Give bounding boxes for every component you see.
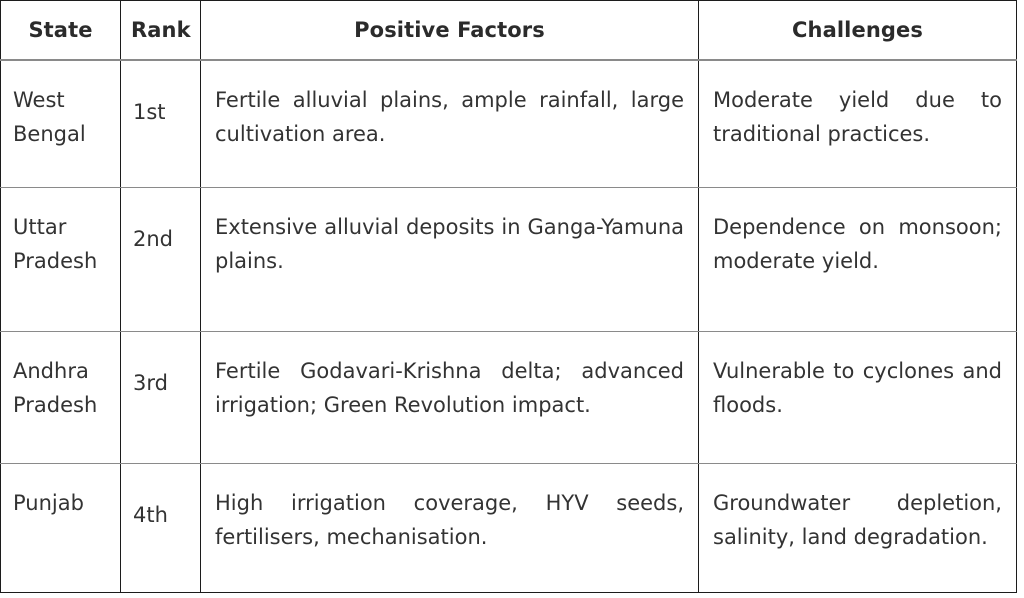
positive-factors-text: Fertile Godavari-Krishna delta; advanced… [215, 354, 684, 422]
challenges-text: Vulnerable to cyclones and floods. [713, 354, 1002, 422]
column-header-rank: Rank [121, 1, 201, 60]
states-comparison-table: State Rank Positive Factors Challenges W… [0, 0, 1017, 593]
table-body: West Bengal 1st Fertile alluvial plains,… [1, 60, 1017, 593]
positive-factors-text: High irrigation coverage, HYV seeds, fer… [215, 486, 684, 554]
cell-challenges: Groundwater depletion, salinity, land de… [699, 464, 1017, 593]
table-row: Punjab 4th High irrigation coverage, HYV… [1, 464, 1017, 593]
positive-factors-text: Extensive alluvial deposits in Ganga-Yam… [215, 210, 684, 278]
cell-state: Andhra Pradesh [1, 332, 121, 464]
column-header-positive-factors: Positive Factors [201, 1, 699, 60]
rank-value: 3rd [133, 354, 194, 400]
column-header-state: State [1, 1, 121, 60]
cell-state: Punjab [1, 464, 121, 593]
column-header-challenges: Challenges [699, 1, 1017, 60]
cell-rank: 1st [121, 60, 201, 188]
cell-state: West Bengal [1, 60, 121, 188]
table-container: State Rank Positive Factors Challenges W… [0, 0, 1017, 593]
cell-challenges: Vulnerable to cyclones and floods. [699, 332, 1017, 464]
positive-factors-text: Fertile alluvial plains, ample rainfall,… [215, 83, 684, 151]
table-row: West Bengal 1st Fertile alluvial plains,… [1, 60, 1017, 188]
table-header-row: State Rank Positive Factors Challenges [1, 1, 1017, 60]
cell-challenges: Moderate yield due to traditional practi… [699, 60, 1017, 188]
cell-positive-factors: Fertile Godavari-Krishna delta; advanced… [201, 332, 699, 464]
table-header: State Rank Positive Factors Challenges [1, 1, 1017, 60]
cell-challenges: Dependence on monsoon; moderate yield. [699, 188, 1017, 332]
cell-rank: 2nd [121, 188, 201, 332]
challenges-text: Groundwater depletion, salinity, land de… [713, 486, 1002, 554]
state-name: West Bengal [13, 83, 112, 151]
cell-state: Uttar Pradesh [1, 188, 121, 332]
challenges-text: Dependence on monsoon; moderate yield. [713, 210, 1002, 278]
cell-positive-factors: Fertile alluvial plains, ample rainfall,… [201, 60, 699, 188]
cell-rank: 3rd [121, 332, 201, 464]
cell-rank: 4th [121, 464, 201, 593]
table-row: Uttar Pradesh 2nd Extensive alluvial dep… [1, 188, 1017, 332]
cell-positive-factors: Extensive alluvial deposits in Ganga-Yam… [201, 188, 699, 332]
rank-value: 1st [133, 83, 194, 129]
cell-positive-factors: High irrigation coverage, HYV seeds, fer… [201, 464, 699, 593]
rank-value: 4th [133, 486, 194, 532]
state-name: Andhra Pradesh [13, 354, 112, 422]
state-name: Punjab [13, 486, 112, 520]
challenges-text: Moderate yield due to traditional practi… [713, 83, 1002, 151]
table-row: Andhra Pradesh 3rd Fertile Godavari-Kris… [1, 332, 1017, 464]
rank-value: 2nd [133, 210, 194, 256]
state-name: Uttar Pradesh [13, 210, 112, 278]
